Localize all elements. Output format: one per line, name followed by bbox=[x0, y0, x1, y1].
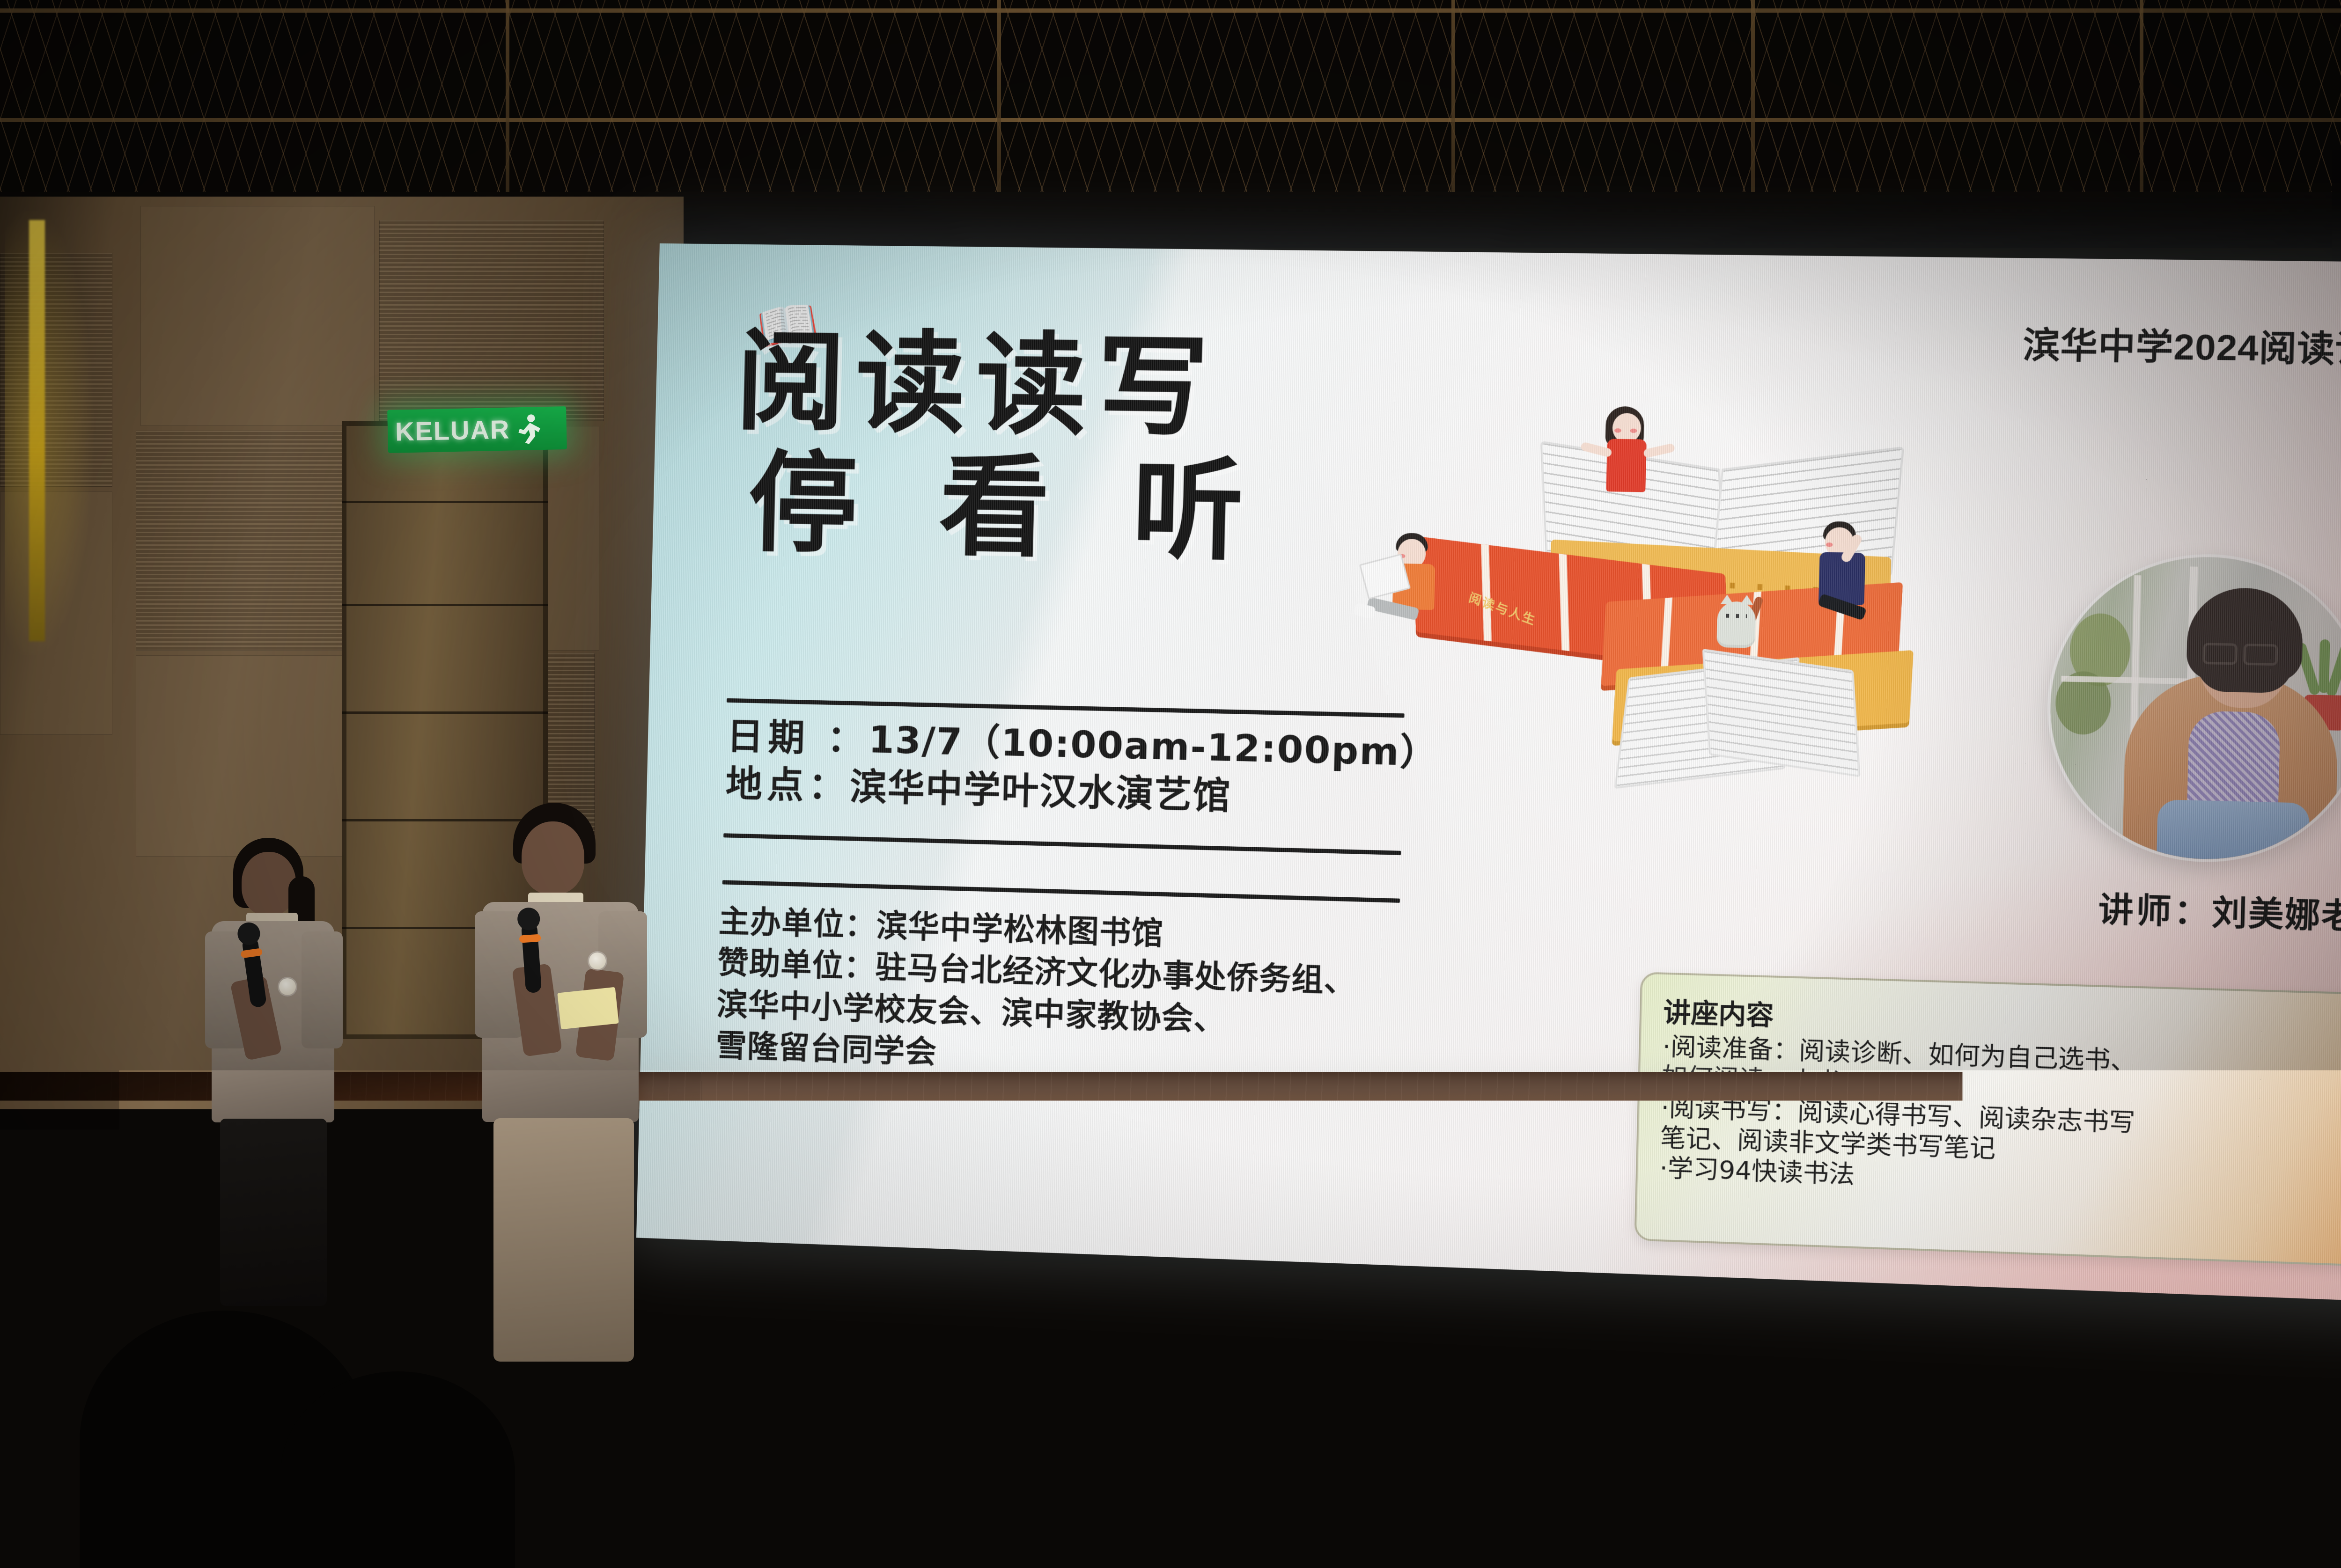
student-mc-male bbox=[473, 803, 660, 1364]
sponsor-label: 赞助单位： bbox=[717, 945, 876, 985]
student-mc-female bbox=[201, 838, 351, 1334]
auditorium-scene: KELUAR 滨华中学2024阅读讲座 📖 阅读读写 停 看 听 bbox=[0, 0, 2341, 1568]
stacked-books-illustration: 阅读与人生 bbox=[1391, 395, 1921, 740]
wall-led-glow bbox=[5, 211, 94, 655]
slide-header-title: 滨华中学2024阅读讲座 bbox=[2022, 316, 2341, 374]
exit-sign: KELUAR bbox=[387, 406, 567, 453]
audience-head bbox=[1639, 1432, 1835, 1568]
audience-head bbox=[1377, 1385, 1597, 1568]
school-crest-icon bbox=[2233, 1258, 2285, 1309]
cat-icon bbox=[1716, 601, 1756, 648]
wall-led-strip bbox=[29, 220, 45, 641]
lectern bbox=[2172, 1208, 2341, 1568]
venue-value: 滨华中学叶汉水演艺馆 bbox=[849, 766, 1232, 818]
audience-head bbox=[492, 1465, 651, 1568]
date-label: 日期 ： bbox=[726, 716, 869, 761]
speaker-credit: 讲师：刘美娜老师 bbox=[2098, 883, 2341, 940]
audience-head bbox=[281, 1371, 515, 1568]
speaker-name-value: 刘美娜老师 bbox=[2211, 893, 2341, 938]
audience-head bbox=[908, 1404, 1128, 1568]
audience-head bbox=[665, 1385, 866, 1568]
venue-label: 地点： bbox=[725, 763, 850, 808]
organizer-block: 主办单位：滨华中学松林图书馆 赞助单位：驻马台北经济文化办事处侨务组、 滨华中小… bbox=[715, 901, 1543, 1092]
exit-sign-label: KELUAR bbox=[395, 414, 510, 447]
host-value: 滨华中学松林图书馆 bbox=[876, 908, 1164, 952]
audience-head bbox=[1901, 1456, 2121, 1568]
cue-card bbox=[557, 987, 618, 1030]
ceiling-lattice-truss bbox=[0, 0, 2341, 201]
speaker-label: 讲师： bbox=[2098, 890, 2212, 933]
event-meta: 日期 ：13/7（10:00am-12:00pm） 地点：滨华中学叶汉水演艺馆 bbox=[725, 713, 1439, 827]
running-person-icon bbox=[516, 413, 544, 444]
speaker-portrait-photo bbox=[2047, 554, 2341, 863]
host-label: 主办单位： bbox=[718, 903, 877, 944]
